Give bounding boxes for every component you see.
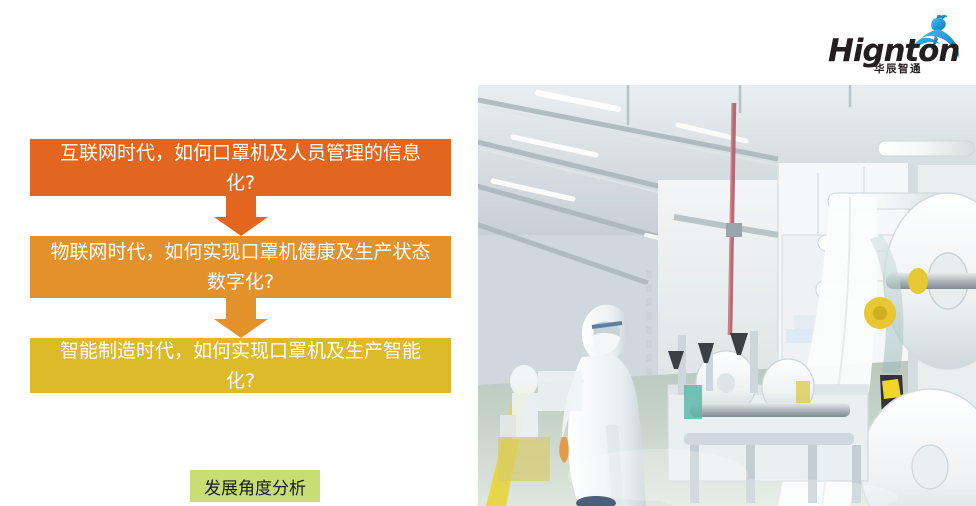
flow-step-internet-era[interactable]: 互联网时代，如何口罩机及人员管理的信息化? <box>30 139 451 196</box>
flow-arrow-1-wrap <box>30 196 451 236</box>
logo-subtitle: 华辰智通 <box>874 61 922 76</box>
slide-canvas: Hignton 华辰智通 互联网时代，如何口罩机及人员管理的信息化? 物联网时代… <box>0 0 976 506</box>
section-caption-badge: 发展角度分析 <box>190 470 320 502</box>
development-perspective-flow: 互联网时代，如何口罩机及人员管理的信息化? 物联网时代，如何实现口罩机健康及生产… <box>30 139 451 393</box>
flow-step-iot-era[interactable]: 物联网时代，如何实现口罩机健康及生产状态数字化? <box>30 236 451 298</box>
factory-cleanroom-photo <box>478 85 976 506</box>
brand-logo: Hignton 华辰智通 <box>828 14 968 76</box>
flow-arrow-2-wrap <box>30 298 451 338</box>
flow-step-smart-manufacturing-era[interactable]: 智能制造时代，如何实现口罩机及生产智能化? <box>30 338 451 393</box>
